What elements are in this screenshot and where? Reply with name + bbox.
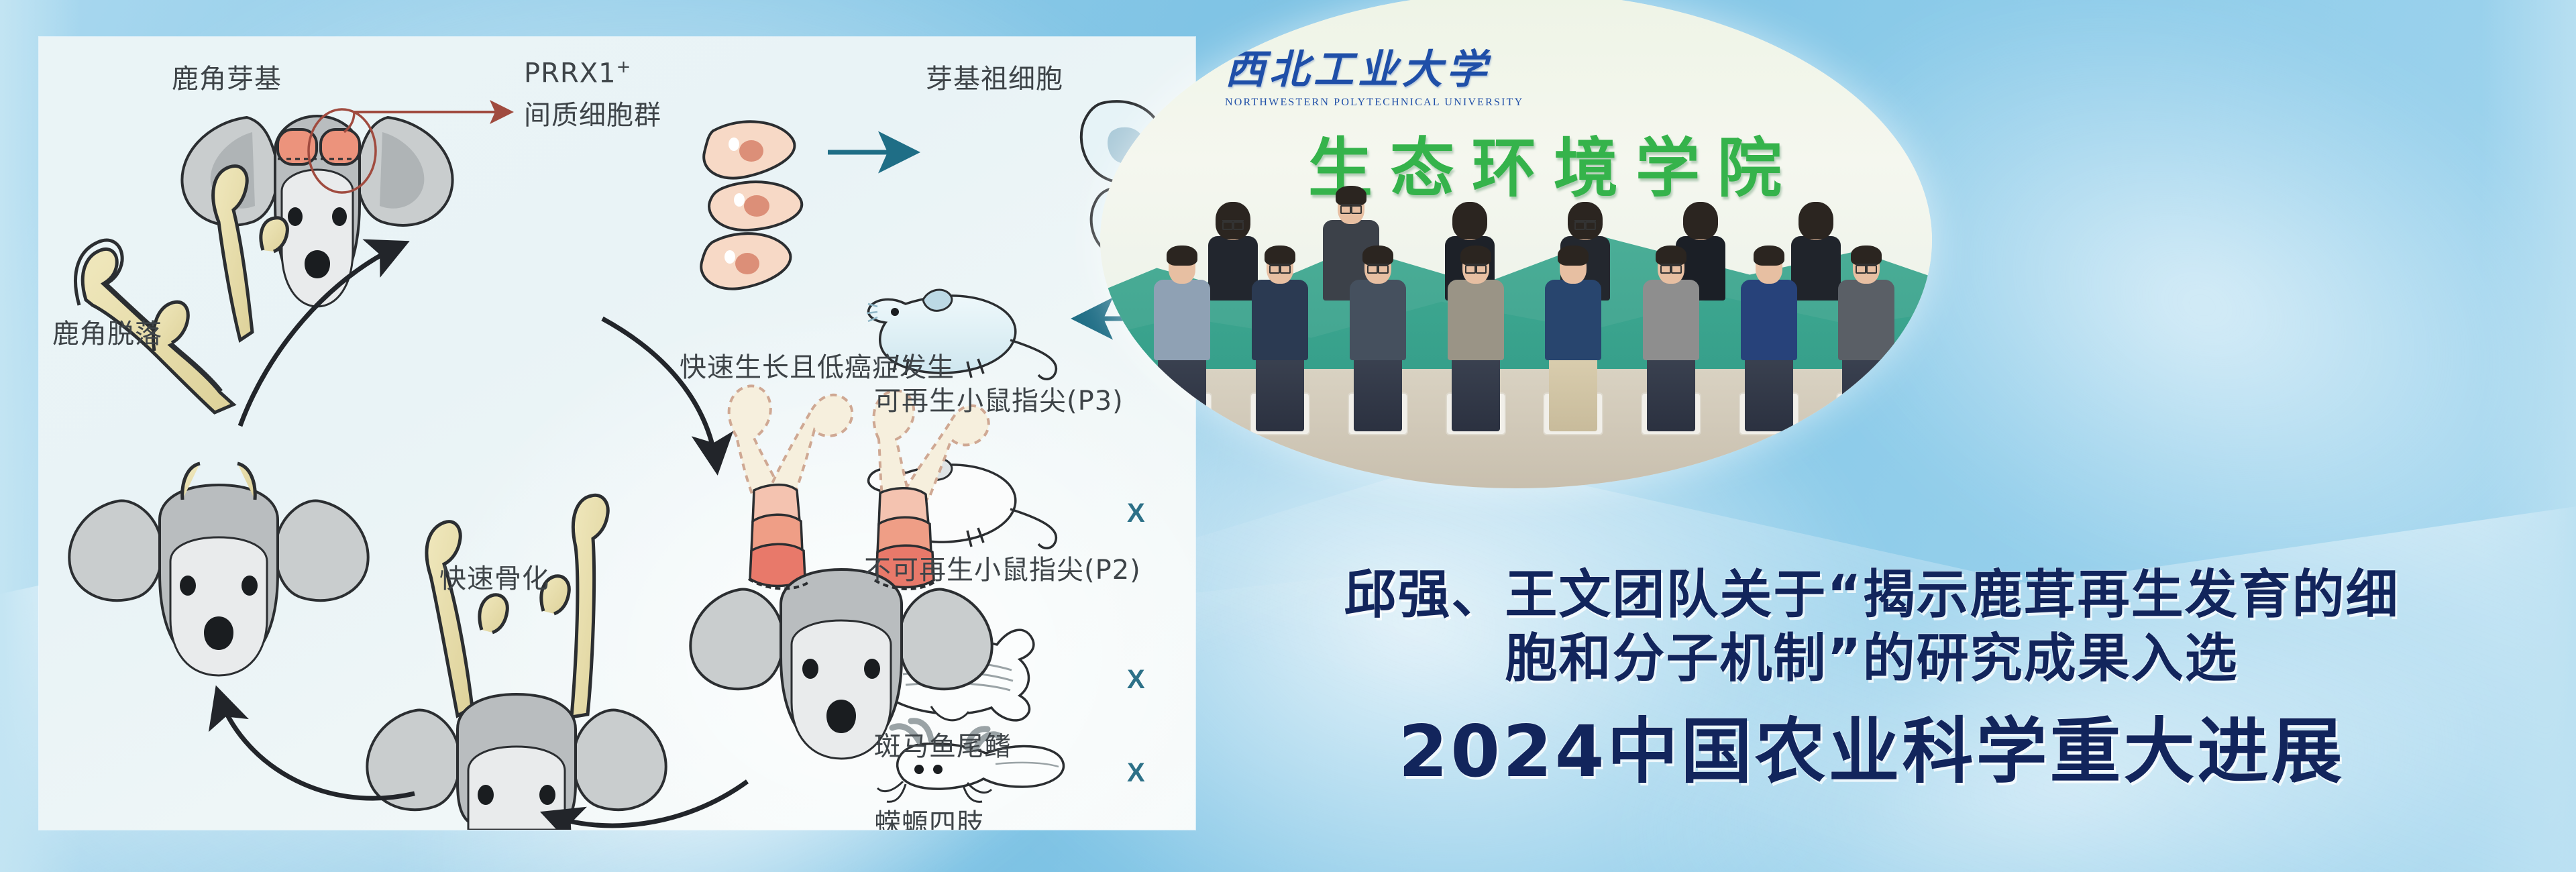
poster-stage: 鹿角芽基 PRRX1+ 间质细胞群 芽基祖细胞 鹿角脱落 快速生长且低癌症发生 … [0,0,2576,872]
label-prrx1: PRRX1+ [524,57,631,89]
label-regenerative-mouse-digit: 可再生小鼠指尖(P3) [874,379,1124,418]
headline-line-1: 邱强、王文团队关于“揭示鹿茸再生发育的细 [1281,563,2462,627]
headline-block: 邱强、王文团队关于“揭示鹿茸再生发育的细 胞和分子机制”的研究成果入选 2024… [1281,563,2462,796]
university-name-cn: 西北工业大学 [1225,37,1523,95]
label-prrx1-superscript: + [616,57,632,77]
antler-cycle-illustration [39,37,1195,830]
label-prrx1-text: PRRX1 [524,58,616,89]
person [1154,250,1210,431]
label-rapid-ossification: 快速骨化 [439,557,549,596]
label-blastema-progenitor: 芽基祖细胞 [926,57,1063,96]
diagram-panel: 鹿角芽基 PRRX1+ 间质细胞群 芽基祖细胞 鹿角脱落 快速生长且低癌症发生 … [39,37,1195,830]
x-mark-axolotl: X [1127,758,1145,788]
x-mark-zebrafish: X [1127,665,1145,695]
label-antler-blastema: 鹿角芽基 [172,57,282,96]
headline-line-2: 胞和分子机制”的研究成果入选 [1281,627,2462,691]
label-axolotl-limbs: 蝾螈四肢 [874,802,984,830]
label-non-regenerative-mouse-digit: 不可再生小鼠指尖(P2) [864,548,1141,587]
prrx1-mesenchymal-cells [701,121,802,288]
university-logo: 西北工业大学 NORTHWESTERN POLYTECHNICAL UNIVER… [1225,37,1523,109]
team-group-photo: 西北工业大学 NORTHWESTERN POLYTECHNICAL UNIVER… [1100,0,1932,488]
label-antler-casting: 鹿角脱落 [52,312,162,351]
person [1252,250,1308,431]
person [1838,250,1894,431]
label-zebrafish-fin: 斑马鱼尾鳍 [874,724,1012,763]
photo-inner: 西北工业大学 NORTHWESTERN POLYTECHNICAL UNIVER… [1100,0,1932,488]
deer-ossified-stage [367,495,665,830]
headline-line-3: 2024中国农业科学重大进展 [1281,708,2462,795]
person [1741,250,1797,431]
arrow-blastema-to-growth [602,319,716,466]
background-edge-right [2482,0,2576,872]
university-name-en: NORTHWESTERN POLYTECHNICAL UNIVERSITY [1225,97,1523,109]
person [1791,207,1841,301]
person [1208,207,1258,301]
x-mark-mouse-p2: X [1127,498,1145,529]
label-prrx1-mesenchymal: 间质细胞群 [524,93,661,132]
